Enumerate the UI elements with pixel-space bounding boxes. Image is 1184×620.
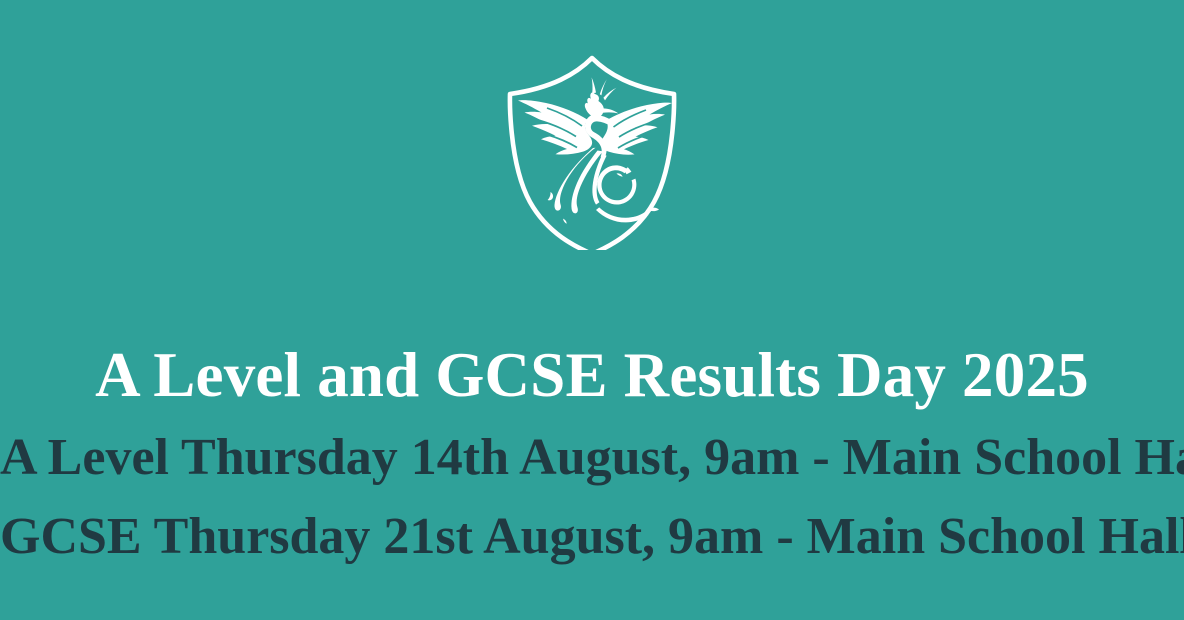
results-day-banner: A Level and GCSE Results Day 2025 A Leve… <box>0 0 1184 620</box>
phoenix-wing-left <box>518 100 592 154</box>
phoenix-beak <box>603 108 619 113</box>
phoenix-shield-crest-icon <box>492 50 692 250</box>
phoenix-flourish-center <box>617 173 623 176</box>
shield-outline <box>510 58 674 250</box>
phoenix-crest-feather-3 <box>603 88 616 101</box>
crest-container <box>0 50 1184 250</box>
phoenix-crest-feather-1 <box>592 77 596 93</box>
phoenix-crest-feather-2 <box>600 79 607 95</box>
detail-line-gcse: GCSE Thursday 21st August, 9am - Main Sc… <box>0 497 1184 576</box>
detail-line-a-level: A Level Thursday 14th August, 9am - Main… <box>0 418 1184 497</box>
page-title: A Level and GCSE Results Day 2025 <box>0 342 1184 408</box>
event-details: A Level Thursday 14th August, 9am - Main… <box>0 418 1184 576</box>
phoenix-flourish-left <box>548 192 553 200</box>
phoenix-flourish-lower-left <box>563 219 567 224</box>
